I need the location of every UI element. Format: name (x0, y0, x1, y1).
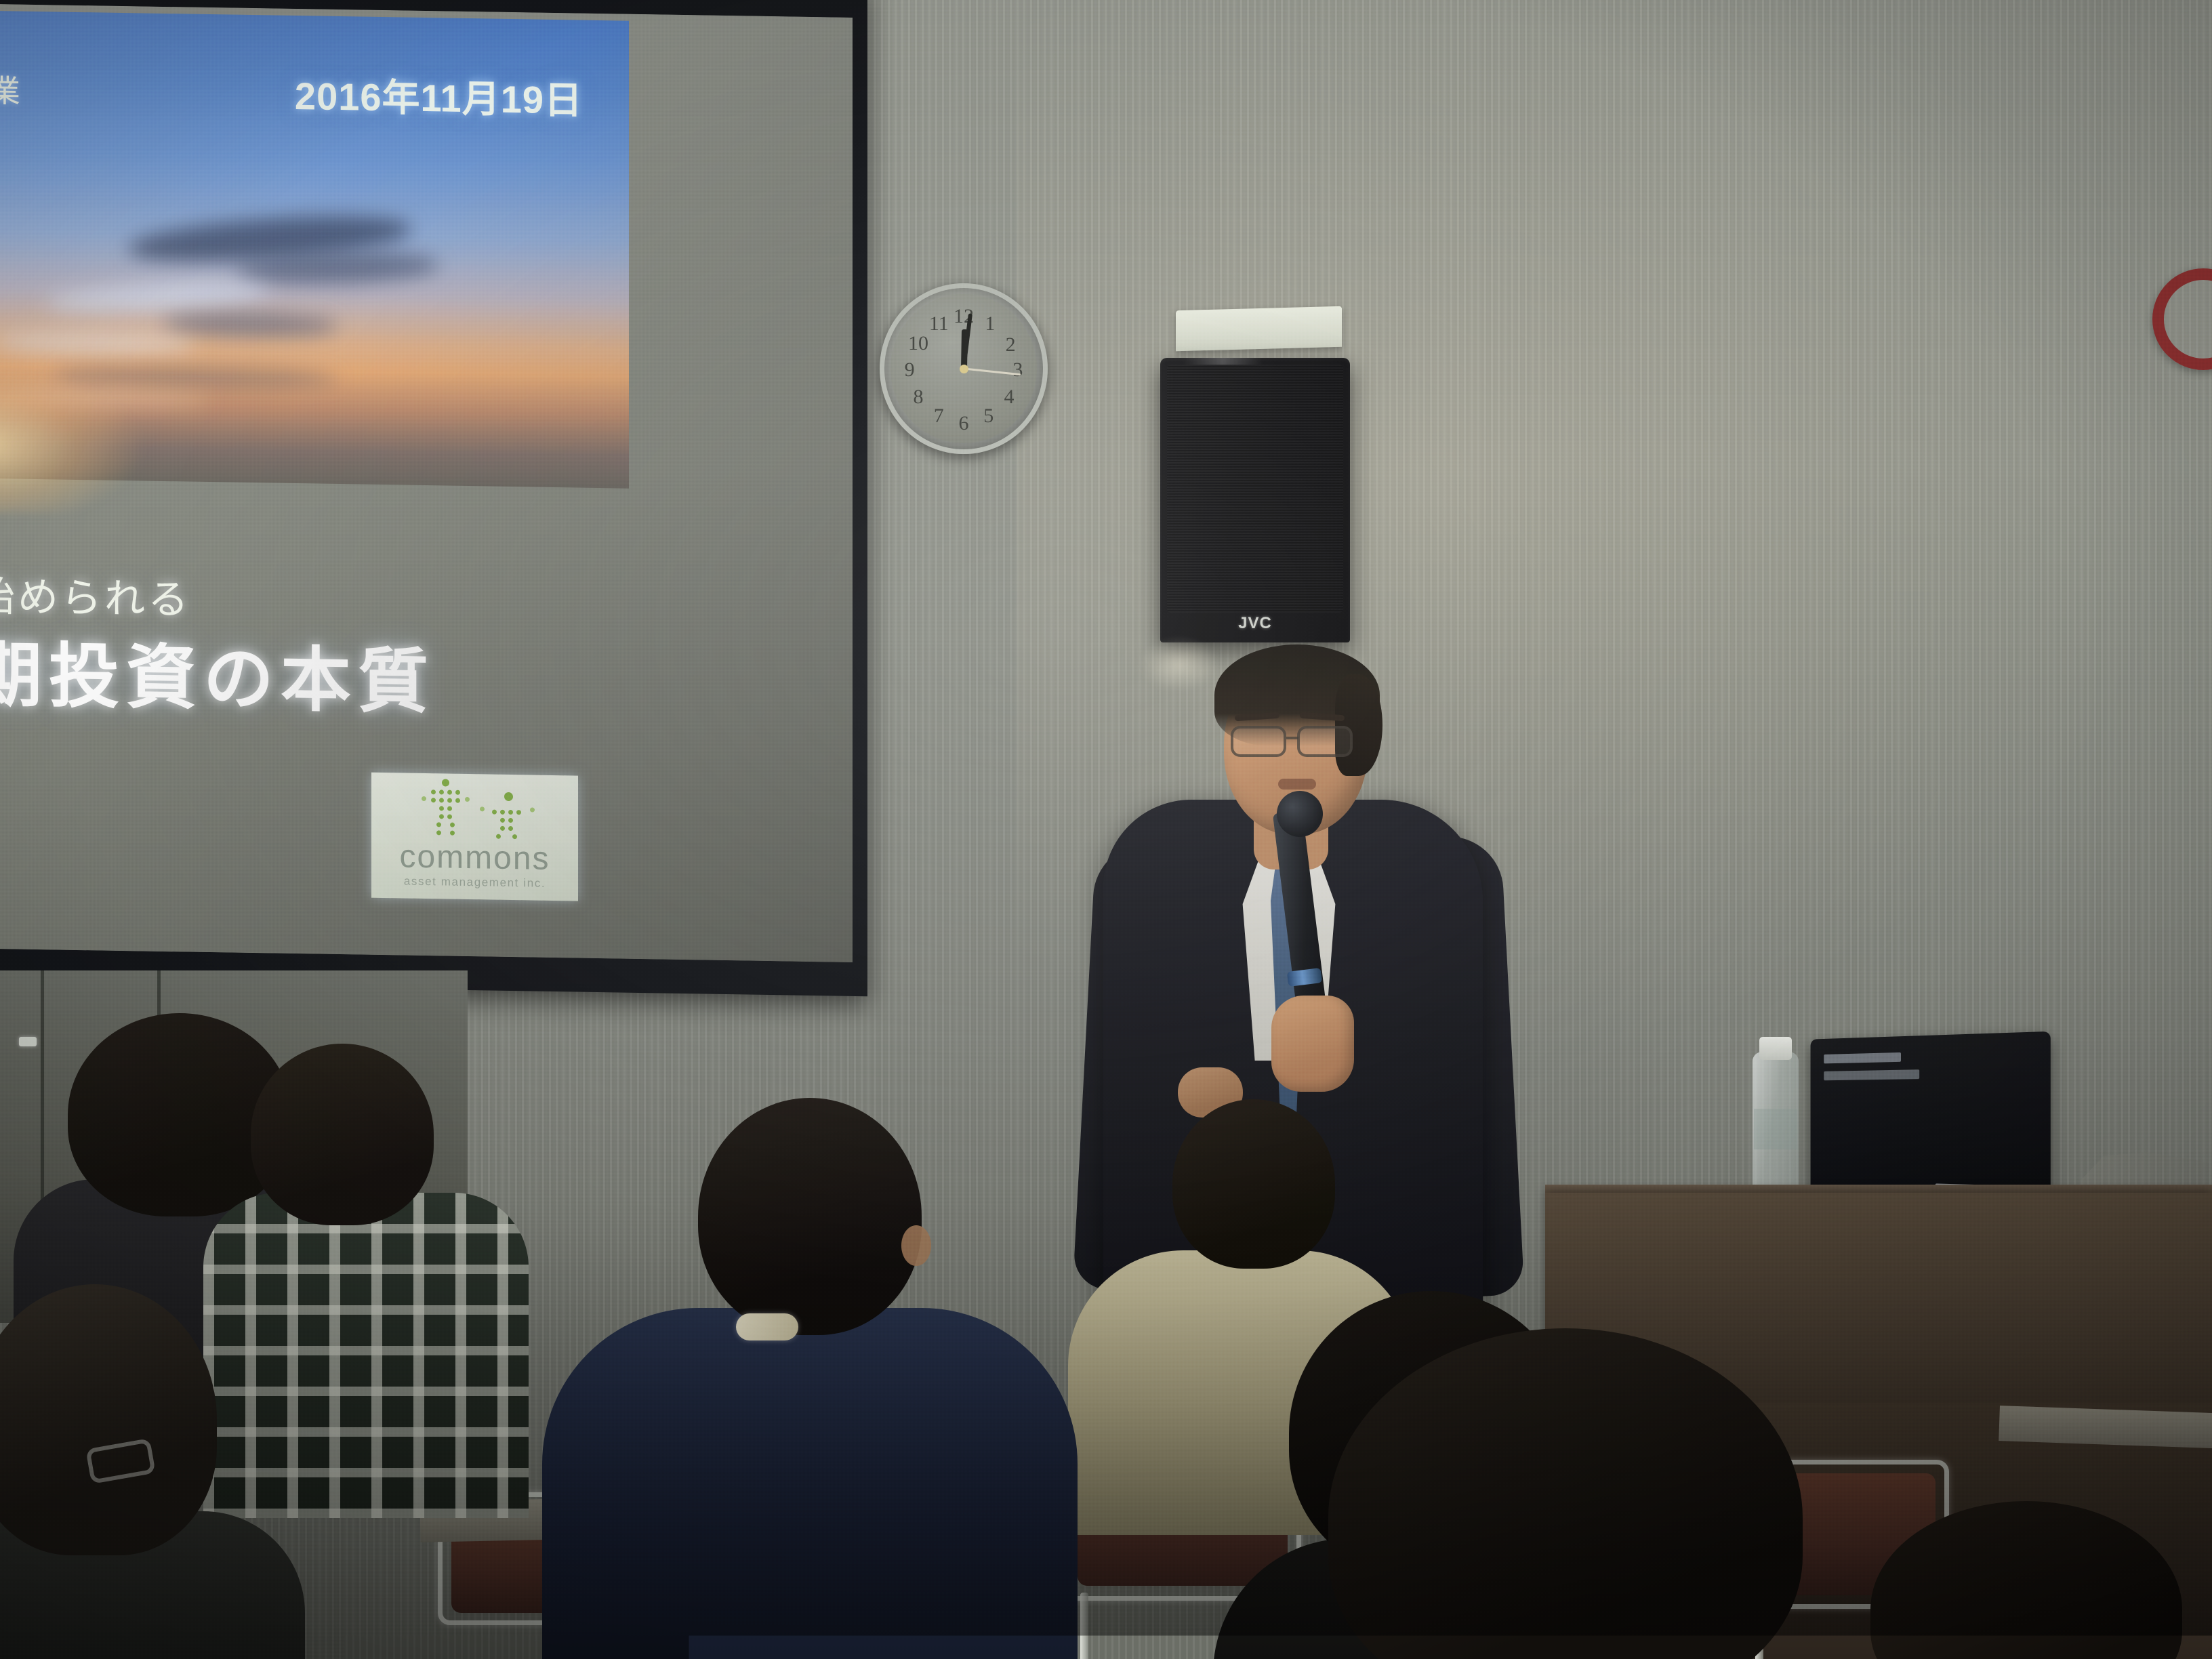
seminar-room-photo: 業 2016年11月19日 始められる 期投資の本質 (0, 0, 2212, 1659)
scene-vignette (0, 0, 2212, 1659)
